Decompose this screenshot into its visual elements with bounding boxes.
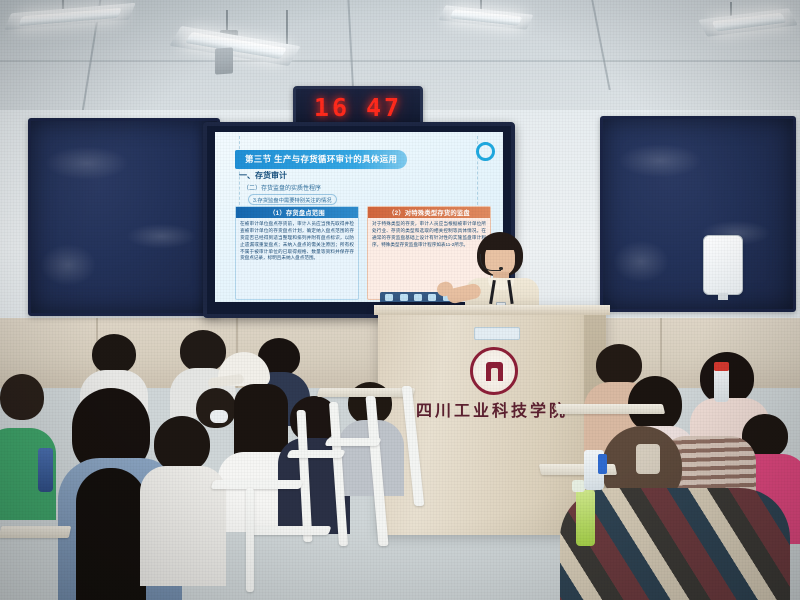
hair-clip-icon (636, 444, 660, 474)
slide-heading-1: 一、存货审计 (239, 170, 287, 181)
podium-top-surface (374, 305, 610, 315)
attendee-head (596, 344, 642, 386)
pointer-icon[interactable] (414, 294, 422, 301)
clock-minutes: 47 (366, 93, 402, 122)
attendee-head (92, 334, 136, 374)
desk-surface (0, 526, 71, 538)
light-rod (226, 10, 228, 32)
clock-hours: 16 (314, 93, 350, 122)
microphone-boom (499, 267, 503, 270)
audience-area (0, 330, 800, 600)
slide-box-body: 在被审计单位盘点存货前，审计人员应当预先取得并检查被审计单位的存货盘点计划，确定… (236, 218, 358, 302)
slide-box-number: （1） (269, 208, 286, 217)
seat-frame-rail (324, 438, 381, 446)
attendee-head (180, 330, 226, 372)
seat-frame-rail (211, 480, 304, 489)
slide-title: 第三节 生产与存货循环审计的具体运用 (235, 150, 407, 169)
circle-ring-icon (476, 142, 495, 161)
slide-box-header: （2） 对特殊类型存货的监盘 (368, 207, 490, 218)
chalkboard-left (28, 118, 220, 316)
slide-box-number: （2） (388, 208, 405, 217)
panel-stem (718, 293, 728, 300)
bottle-cap-red (714, 362, 729, 371)
chalkboard-right (600, 116, 796, 312)
ceiling-seam (591, 0, 610, 90)
slide-box-inventory-scope: （1） 存货盘点范围 在被审计单位盘点存货前，审计人员应当预先取得并检查被审计单… (235, 206, 359, 300)
seat-frame-post (246, 488, 254, 592)
ceiling-speaker-icon (215, 47, 233, 74)
attendee-head (0, 374, 44, 420)
slide-box-title: 对特殊类型存货的监盘 (405, 208, 470, 217)
presenter (455, 232, 551, 312)
menu-icon[interactable] (428, 294, 436, 301)
attendee-hair-long (76, 468, 146, 600)
presenter-fringe (483, 237, 517, 250)
water-bottle-blue (38, 448, 53, 492)
eraser-icon[interactable] (400, 294, 408, 301)
slide-box-title: 存货盘点范围 (286, 208, 325, 217)
seat-frame-rail (249, 526, 332, 535)
slide-heading-3: 3.存货监盘中需要特别关注的情况 (248, 194, 337, 205)
wall-control-panel[interactable] (703, 235, 743, 295)
chalk-dust (31, 121, 217, 313)
light-rod (730, 2, 732, 16)
pen-icon[interactable] (385, 294, 393, 301)
ceiling-seam (347, 0, 354, 100)
chalk-dust (603, 119, 793, 309)
attendee-head (154, 416, 210, 472)
water-bottle-red-cap (714, 368, 729, 402)
lecture-hall-photo: 16 47 第三节 生产与存货循环审计的具体运用 一、存货审计 （二）存货监盘的… (0, 0, 800, 600)
desk-surface (555, 404, 665, 414)
water-bottle-green (576, 490, 595, 546)
slide-box-header: （1） 存货盘点范围 (236, 207, 358, 218)
bottle-strap (598, 454, 607, 474)
slide-heading-2: （二）存货监盘的实质性程序 (243, 183, 321, 192)
ceiling-seam (0, 60, 800, 62)
face-mask-icon (210, 410, 228, 423)
light-rod (286, 10, 288, 44)
seat-frame-rail (286, 450, 345, 458)
seat-frame-post (402, 386, 425, 506)
